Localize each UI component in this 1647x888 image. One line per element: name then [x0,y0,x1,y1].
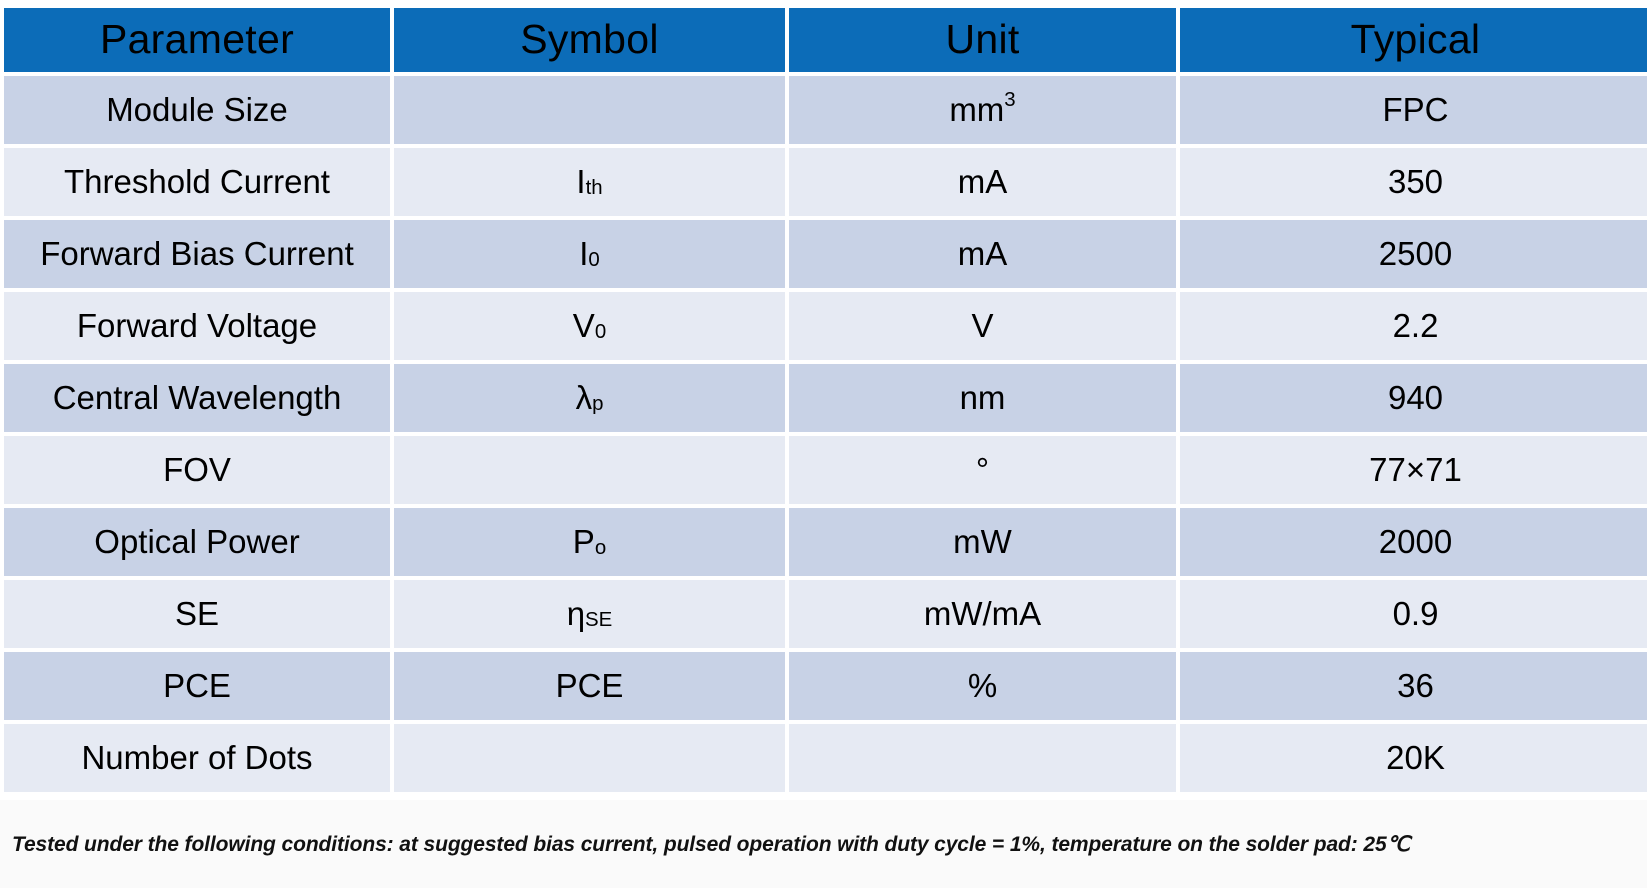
cell-typical: 940 [1180,364,1647,432]
footnote-text: Tested under the following conditions: a… [0,832,1410,857]
footnote: Tested under the following conditions: a… [0,800,1647,888]
column-header-parameter: Parameter [4,8,390,72]
cell-parameter: FOV [4,436,390,504]
table-row: Optical PowerPomW2000 [4,508,1647,576]
cell-unit: mA [789,220,1176,288]
column-header-typical: Typical [1180,8,1647,72]
cell-typical: 77×71 [1180,436,1647,504]
table-row: Central Wavelengthλpnm940 [4,364,1647,432]
table-row: Threshold CurrentIthmA350 [4,148,1647,216]
cell-symbol: I0 [394,220,785,288]
cell-parameter: Central Wavelength [4,364,390,432]
table-row: Forward Bias CurrentI0mA2500 [4,220,1647,288]
cell-symbol: ηSE [394,580,785,648]
cell-symbol [394,76,785,144]
cell-symbol: λp [394,364,785,432]
cell-typical: 2500 [1180,220,1647,288]
cell-typical: 350 [1180,148,1647,216]
cell-typical: 20K [1180,724,1647,792]
specification-table: Parameter Symbol Unit Typical Module Siz… [0,4,1647,796]
cell-unit: nm [789,364,1176,432]
cell-symbol [394,724,785,792]
cell-typical: 36 [1180,652,1647,720]
cell-typical: FPC [1180,76,1647,144]
cell-typical: 2.2 [1180,292,1647,360]
table-row: FOV°77×71 [4,436,1647,504]
cell-symbol: V0 [394,292,785,360]
cell-typical: 0.9 [1180,580,1647,648]
table-row: SEηSEmW/mA0.9 [4,580,1647,648]
cell-unit: ° [789,436,1176,504]
cell-unit: mW/mA [789,580,1176,648]
cell-unit: mm3 [789,76,1176,144]
cell-parameter: SE [4,580,390,648]
cell-symbol: PCE [394,652,785,720]
column-header-symbol: Symbol [394,8,785,72]
cell-unit: % [789,652,1176,720]
cell-parameter: Number of Dots [4,724,390,792]
cell-typical: 2000 [1180,508,1647,576]
cell-unit: mW [789,508,1176,576]
header-row: Parameter Symbol Unit Typical [4,8,1647,72]
cell-symbol [394,436,785,504]
cell-parameter: Threshold Current [4,148,390,216]
column-header-unit: Unit [789,8,1176,72]
cell-parameter: PCE [4,652,390,720]
cell-unit: V [789,292,1176,360]
cell-parameter: Forward Voltage [4,292,390,360]
cell-unit [789,724,1176,792]
spec-sheet: Parameter Symbol Unit Typical Module Siz… [0,0,1647,888]
table-row: Number of Dots20K [4,724,1647,792]
cell-symbol: Po [394,508,785,576]
table-row: Module Sizemm3FPC [4,76,1647,144]
cell-parameter: Optical Power [4,508,390,576]
table-row: PCEPCE%36 [4,652,1647,720]
table-body: Module Sizemm3FPCThreshold CurrentIthmA3… [4,76,1647,792]
cell-parameter: Forward Bias Current [4,220,390,288]
table-header: Parameter Symbol Unit Typical [4,8,1647,72]
cell-parameter: Module Size [4,76,390,144]
cell-symbol: Ith [394,148,785,216]
cell-unit: mA [789,148,1176,216]
table-row: Forward VoltageV0V2.2 [4,292,1647,360]
